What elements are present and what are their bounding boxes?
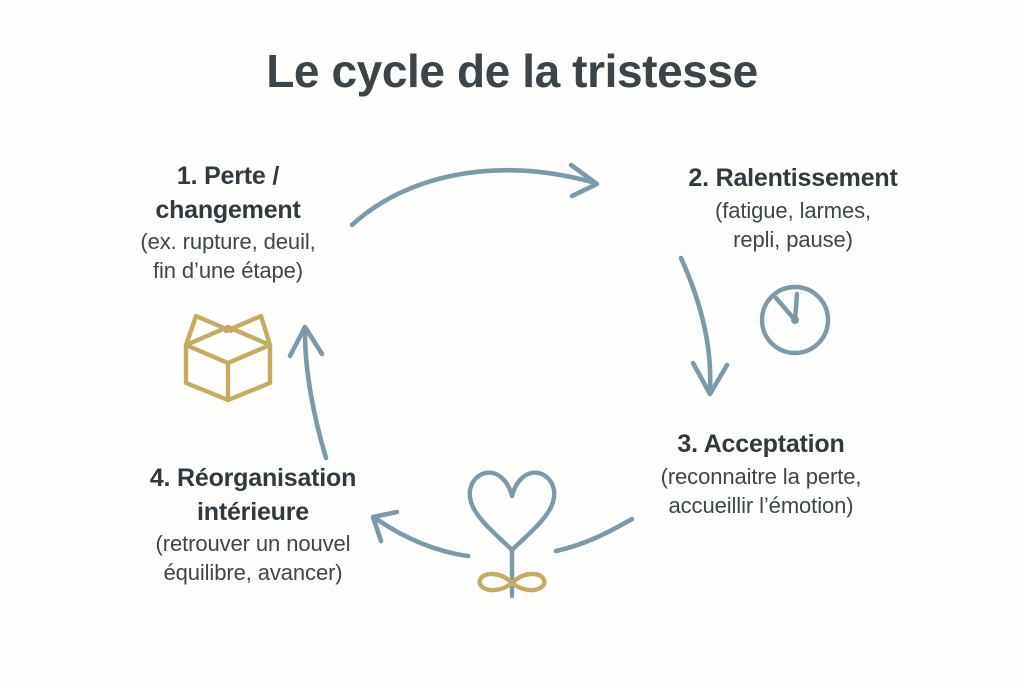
page-title: Le cycle de la tristesse [0, 46, 1024, 97]
stage-title-4: 4. Réorganisation intérieure [98, 462, 408, 529]
arrow-2-to-3-icon [681, 258, 727, 394]
stage-detail-2: (fatigue, larmes, repli, pause) [638, 196, 948, 255]
heart-flower-icon [470, 473, 554, 596]
stage-detail-3: (reconnaitre la perte, accueillir l’émot… [606, 462, 916, 521]
diagram-canvas: Le cycle de la tristesse [0, 0, 1024, 683]
stage-label-ralentissement: 2. Ralentissement (fatigue, larmes, repl… [638, 162, 948, 254]
arrow-3-to-4-icon [373, 512, 632, 556]
stage-detail-4: (retrouver un nouvel équilibre, avancer) [98, 529, 408, 588]
open-box-icon [186, 316, 270, 400]
stage-label-reorganisation-interieure: 4. Réorganisation intérieure (retrouver … [98, 462, 408, 588]
stage-detail-1: (ex. rupture, deuil, fin d’une étape) [78, 227, 378, 286]
stage-title-1: 1. Perte / changement [78, 160, 378, 227]
arrow-4-to-1-icon [290, 327, 326, 458]
clock-icon [762, 287, 828, 353]
stage-label-acceptation: 3. Acceptation (reconnaitre la perte, ac… [606, 428, 916, 520]
stage-label-perte-changement: 1. Perte / changement (ex. rupture, deui… [78, 160, 378, 286]
stage-title-3: 3. Acceptation [606, 428, 916, 462]
stage-title-2: 2. Ralentissement [638, 162, 948, 196]
arrow-1-to-2-icon [352, 165, 597, 225]
